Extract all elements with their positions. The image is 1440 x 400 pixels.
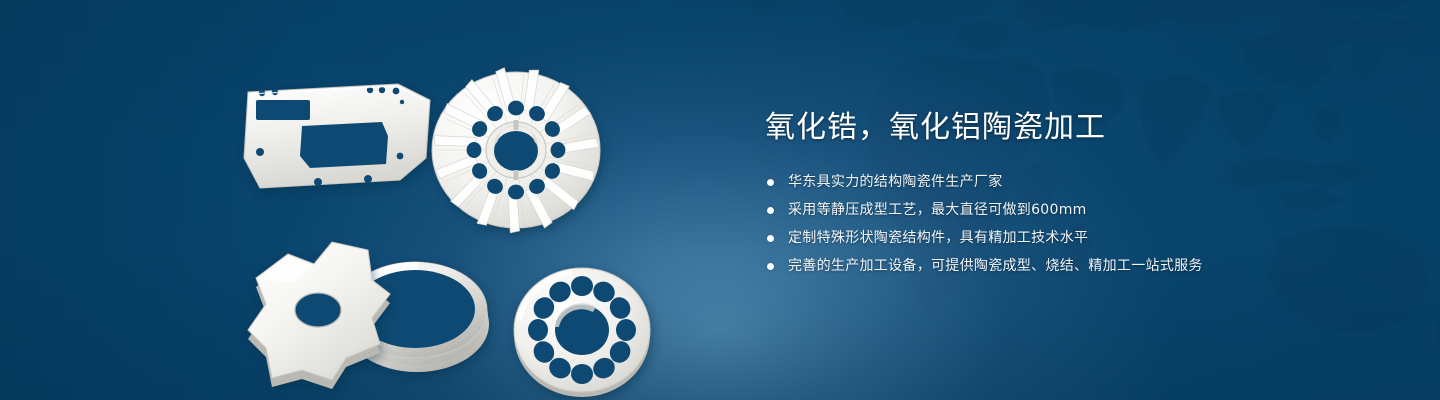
list-item: 定制特殊形状陶瓷结构件，具有精加工技术水平 bbox=[767, 226, 1385, 250]
list-item: 华东具实力的结构陶瓷件生产厂家 bbox=[767, 170, 1385, 194]
bullet-text: 完善的生产加工设备，可提供陶瓷成型、烧结、精加工一站式服务 bbox=[788, 256, 1203, 276]
product-ceramic-cross-vane bbox=[248, 242, 390, 389]
product-ceramic-impeller-disc bbox=[432, 67, 600, 234]
bullet-text: 华东具实力的结构陶瓷件生产厂家 bbox=[788, 172, 1003, 192]
banner-text-block: 氧化锆，氧化铝陶瓷加工 华东具实力的结构陶瓷件生产厂家 采用等静压成型工艺，最大… bbox=[765, 108, 1385, 282]
product-photo-group bbox=[230, 40, 710, 380]
list-item: 采用等静压成型工艺，最大直径可做到600mm bbox=[767, 198, 1385, 222]
hero-banner: 氧化锆，氧化铝陶瓷加工 华东具实力的结构陶瓷件生产厂家 采用等静压成型工艺，最大… bbox=[0, 0, 1440, 400]
bullet-dot-icon bbox=[767, 235, 774, 242]
page-title: 氧化锆，氧化铝陶瓷加工 bbox=[765, 108, 1385, 148]
bullet-text: 采用等静压成型工艺，最大直径可做到600mm bbox=[788, 200, 1087, 220]
list-item: 完善的生产加工设备，可提供陶瓷成型、烧结、精加工一站式服务 bbox=[767, 254, 1385, 278]
bullet-dot-icon bbox=[767, 263, 774, 270]
bullet-dot-icon bbox=[767, 207, 774, 214]
product-ceramic-machined-plate bbox=[244, 84, 430, 188]
product-ceramic-perforated-disc bbox=[514, 268, 650, 397]
bullet-dot-icon bbox=[767, 179, 774, 186]
bullet-text: 定制特殊形状陶瓷结构件，具有精加工技术水平 bbox=[788, 228, 1088, 248]
feature-bullet-list: 华东具实力的结构陶瓷件生产厂家 采用等静压成型工艺，最大直径可做到600mm 定… bbox=[767, 170, 1385, 278]
